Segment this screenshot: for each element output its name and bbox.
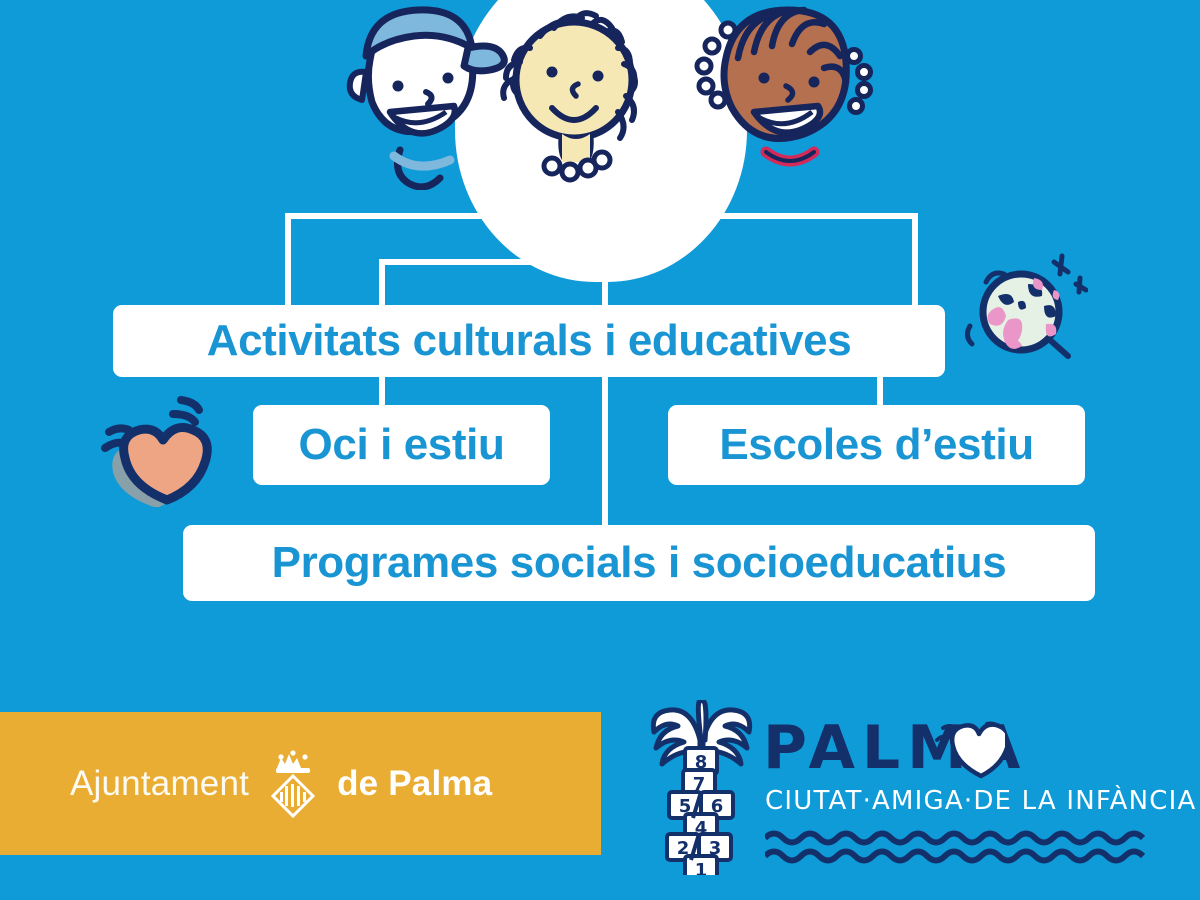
- hopscotch-number: 1: [695, 860, 708, 875]
- label-box-programes[interactable]: Programes socials i socioeducatius: [183, 525, 1095, 601]
- hopscotch-number: 3: [709, 838, 722, 859]
- ajuntament-de-palma-bar: Ajuntament: [0, 712, 601, 855]
- label-text-oci: Oci i estiu: [299, 423, 505, 467]
- label-box-activitats[interactable]: Activitats culturals i educatives: [113, 305, 945, 377]
- label-text-escoles: Escoles d’estiu: [719, 423, 1033, 467]
- label-text-programes: Programes socials i socioeducatius: [272, 541, 1007, 585]
- wave-lines-icon: [765, 828, 1155, 864]
- label-box-oci[interactable]: Oci i estiu: [253, 405, 550, 485]
- palm-tree-hopscotch-icon: 8 7 5 6 4 2 3 1: [645, 700, 760, 875]
- hopscotch-number: 5: [679, 796, 692, 817]
- hopscotch-number: 2: [677, 838, 690, 859]
- heart-icon: [95, 392, 225, 507]
- child-left-with-cap: [350, 10, 505, 187]
- de-palma-word: de Palma: [337, 764, 492, 804]
- ajuntament-logo: Ajuntament: [70, 746, 492, 822]
- label-box-escoles[interactable]: Escoles d’estiu: [668, 405, 1085, 485]
- heart-outline-icon: [935, 718, 1005, 784]
- palma-ciutat-amiga-logo: 8 7 5 6 4 2 3 1 PALMA: [645, 700, 1165, 875]
- label-text-activitats: Activitats culturals i educatives: [207, 319, 852, 363]
- hopscotch-number: 8: [695, 752, 708, 773]
- globe-icon: [958, 250, 1088, 370]
- palma-subtitle: CIUTAT·AMIGA·DE LA INFÀNCIA: [765, 788, 1197, 814]
- child-right-curly: [697, 10, 871, 161]
- poster-canvas: Activitats culturals i educatives Oci i …: [0, 0, 1200, 900]
- hopscotch-number: 6: [711, 796, 724, 817]
- palma-coat-of-arms-icon: [265, 746, 321, 822]
- ajuntament-word: Ajuntament: [70, 764, 249, 804]
- child-centre-blonde: [503, 13, 635, 180]
- three-children-illustration: [330, 0, 890, 190]
